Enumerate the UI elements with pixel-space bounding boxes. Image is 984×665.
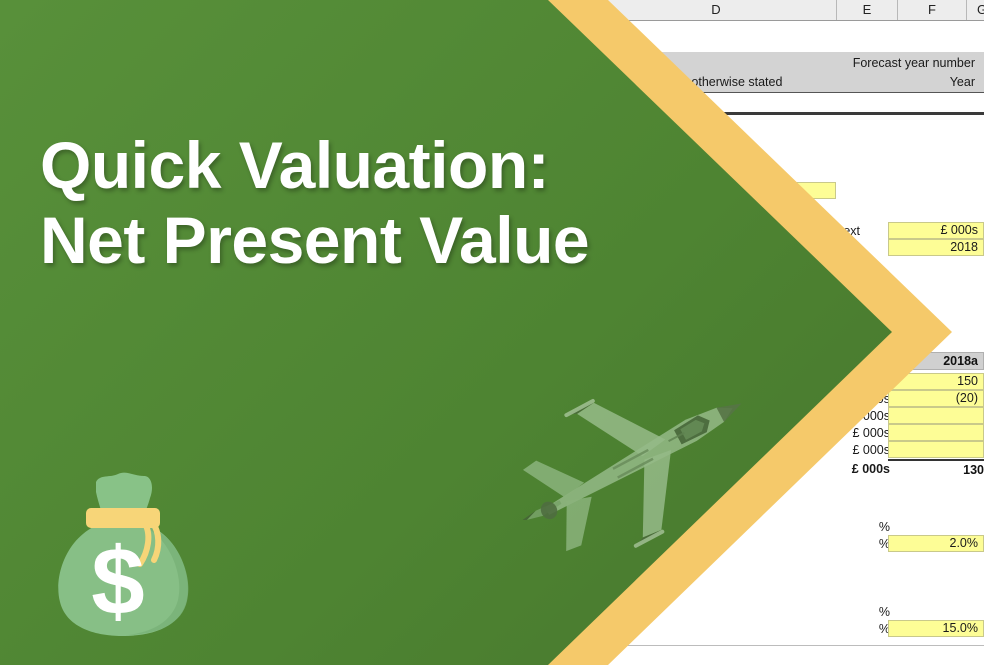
column-header-g[interactable]: G (967, 0, 984, 20)
money-bag-icon: $ (48, 468, 198, 640)
percent-unit-label-3: % (850, 605, 890, 619)
title-line-1: Quick Valuation: (40, 128, 740, 203)
title-block: Quick Valuation: Net Present Value (40, 128, 740, 278)
units-row-value-year[interactable]: 2018 (888, 239, 984, 256)
percent-value-growth-rate[interactable]: 2.0% (888, 535, 984, 552)
column-header-d[interactable]: D (596, 0, 837, 20)
video-thumbnail: D E F G Forecast year number Year pt whe… (0, 0, 984, 665)
cashflow-total-rule (888, 459, 984, 461)
title-line-2: Net Present Value (40, 203, 740, 278)
cashflow-unit-label-5: £ 000s (840, 443, 890, 457)
column-header-f[interactable]: F (898, 0, 967, 20)
column-header-e[interactable]: E (837, 0, 898, 20)
cashflow-value-3[interactable] (888, 407, 984, 424)
year-label: Year (950, 75, 975, 89)
cashflow-value-total: 130 (888, 462, 984, 478)
cashflow-value-4[interactable] (888, 424, 984, 441)
percent-unit-label-2: % (850, 537, 890, 551)
units-row-value-text[interactable]: £ 000s (888, 222, 984, 239)
percent-value-discount-rate[interactable]: 15.0% (888, 620, 984, 637)
cashflow-value-2[interactable]: (20) (888, 390, 984, 407)
svg-text:$: $ (91, 528, 144, 635)
percent-unit-label-4: % (850, 622, 890, 636)
percent-unit-label-1: % (850, 520, 890, 534)
fighter-jet-image (495, 362, 785, 562)
cashflow-unit-label-total: £ 000s (840, 462, 890, 476)
cashflow-value-5[interactable] (888, 441, 984, 458)
forecast-year-number-label: Forecast year number (853, 56, 975, 70)
